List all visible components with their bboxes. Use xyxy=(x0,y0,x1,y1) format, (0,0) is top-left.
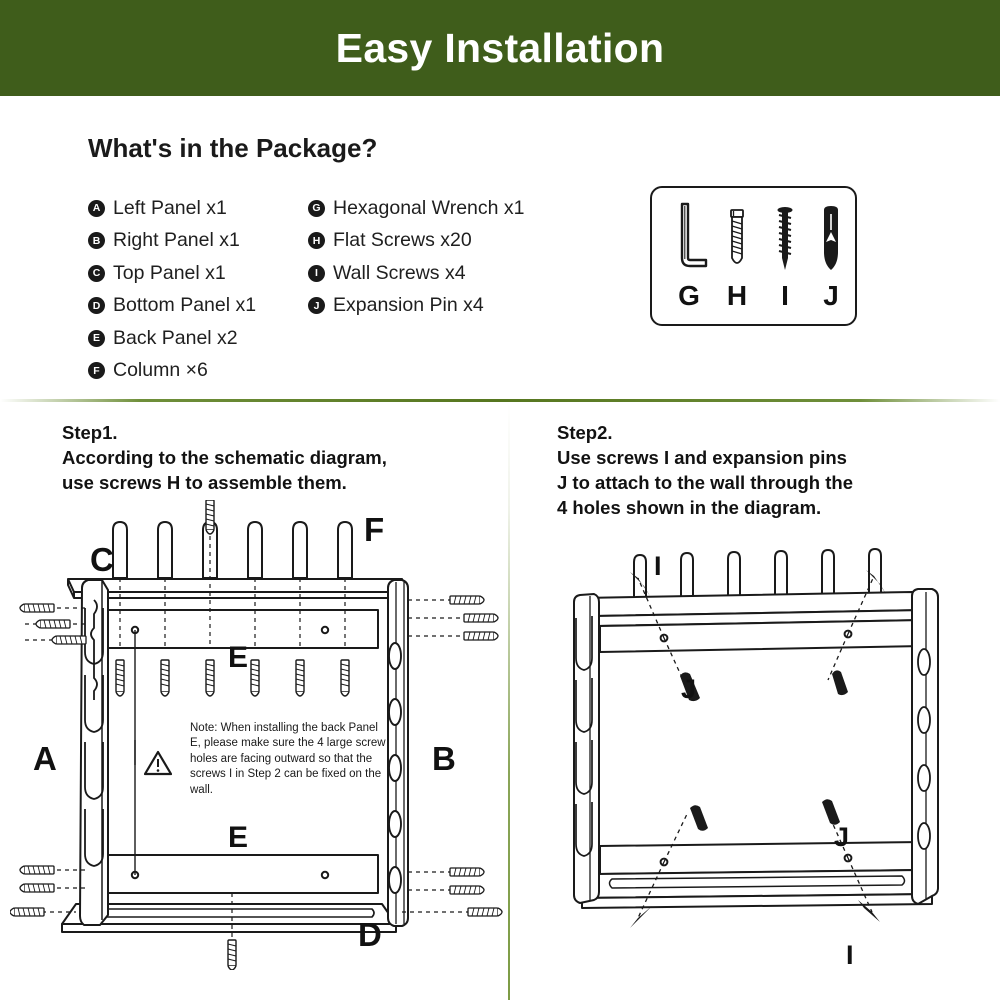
back-panel-upper-assembled xyxy=(600,620,924,652)
right-panel-assembled xyxy=(912,589,938,904)
left-panel-assembled xyxy=(574,594,599,903)
hardware-letter: H xyxy=(712,280,762,312)
item-label: Hexagonal Wrench x1 xyxy=(333,197,525,220)
list-item: C Top Panel x1 xyxy=(88,257,256,290)
list-item: E Back Panel x2 xyxy=(88,322,256,355)
item-label: Right Panel x1 xyxy=(113,229,240,252)
column-posts-assembled xyxy=(634,549,881,598)
package-list-left: A Left Panel x1 B Right Panel x1 C Top P… xyxy=(88,192,256,387)
step2-line3: 4 holes shown in the diagram. xyxy=(557,495,853,520)
page-title: Easy Installation xyxy=(0,0,1000,96)
wall-screw-icon xyxy=(760,196,810,282)
expansion-pin-markers xyxy=(680,670,848,830)
hardware-letter: G xyxy=(664,280,714,312)
back-panel-e-lower xyxy=(88,855,378,893)
step2-instructions: Step2. Use screws I and expansion pins J… xyxy=(557,420,853,520)
item-badge-f: F xyxy=(88,362,105,379)
step1-line1: According to the schematic diagram, xyxy=(62,445,387,470)
item-badge-c: C xyxy=(88,265,105,282)
step2-heading: Step2. xyxy=(557,420,853,445)
diagram-label-f: F xyxy=(364,511,384,549)
bottom-panel-assembled xyxy=(582,870,932,908)
hardware-letter: J xyxy=(806,280,856,312)
diagram-label-e-upper: E xyxy=(228,641,248,675)
diagram-label-c: C xyxy=(90,541,114,579)
step1-line2: use screws H to assemble them. xyxy=(62,470,387,495)
item-label: Column ×6 xyxy=(113,359,208,382)
list-item: A Left Panel x1 xyxy=(88,192,256,225)
item-badge-a: A xyxy=(88,200,105,217)
step2-line2: J to attach to the wall through the xyxy=(557,470,853,495)
diagram-label-j-bottom-right: J xyxy=(834,822,849,853)
item-label: Left Panel x1 xyxy=(113,197,227,220)
diagram-label-j-top-left: J xyxy=(681,674,696,705)
item-label: Back Panel x2 xyxy=(113,327,238,350)
list-item: B Right Panel x1 xyxy=(88,225,256,258)
list-item: D Bottom Panel x1 xyxy=(88,290,256,323)
diagram-label-i-bottom: I xyxy=(846,940,854,971)
item-badge-i: I xyxy=(308,265,325,282)
flat-screw-icon xyxy=(712,196,762,282)
package-list-right: G Hexagonal Wrench x1 H Flat Screws x20 … xyxy=(308,192,525,322)
diagram-label-a: A xyxy=(33,740,57,778)
column-posts xyxy=(113,522,352,578)
expansion-pin-icon xyxy=(806,196,856,282)
item-label: Expansion Pin x4 xyxy=(333,294,484,317)
package-section-title: What's in the Package? xyxy=(88,133,377,164)
diagram-label-i-top: I xyxy=(654,551,662,582)
page-header: Easy Installation xyxy=(0,0,1000,96)
hex-wrench-icon xyxy=(664,196,714,282)
diagram-label-e-lower: E xyxy=(228,821,248,855)
item-label: Wall Screws x4 xyxy=(333,262,466,285)
item-badge-h: H xyxy=(308,232,325,249)
list-item: G Hexagonal Wrench x1 xyxy=(308,192,525,225)
hardware-letter: I xyxy=(760,280,810,312)
item-label: Bottom Panel x1 xyxy=(113,294,256,317)
hardware-illustration-box: G H xyxy=(650,186,857,326)
item-label: Top Panel x1 xyxy=(113,262,226,285)
warning-triangle-icon xyxy=(144,750,172,776)
list-item: I Wall Screws x4 xyxy=(308,257,525,290)
hardware-item-h: H xyxy=(712,196,762,320)
list-item: H Flat Screws x20 xyxy=(308,225,525,258)
vertical-divider xyxy=(508,403,510,1000)
right-panel-b xyxy=(388,580,408,926)
installation-note: Note: When installing the back Panel E, … xyxy=(190,721,390,798)
item-badge-e: E xyxy=(88,330,105,347)
item-label: Flat Screws x20 xyxy=(333,229,472,252)
hardware-item-i: I xyxy=(760,196,810,320)
hardware-item-g: G xyxy=(664,196,714,320)
item-badge-b: B xyxy=(88,232,105,249)
step1-heading: Step1. xyxy=(62,420,387,445)
diagram-label-b: B xyxy=(432,740,456,778)
item-badge-d: D xyxy=(88,297,105,314)
installation-instruction-page: Easy Installation What's in the Package?… xyxy=(0,0,1000,1000)
horizontal-divider xyxy=(0,399,1000,402)
item-badge-g: G xyxy=(308,200,325,217)
step2-line1: Use screws I and expansion pins xyxy=(557,445,853,470)
item-badge-j: J xyxy=(308,297,325,314)
left-panel-a xyxy=(80,580,108,925)
hardware-item-j: J xyxy=(806,196,856,320)
list-item: J Expansion Pin x4 xyxy=(308,290,525,323)
back-panel-lower-assembled xyxy=(600,842,924,874)
top-panel-c xyxy=(68,579,408,598)
diagram-label-d: D xyxy=(358,916,382,954)
list-item: F Column ×6 xyxy=(88,355,256,388)
step2-assembled-diagram xyxy=(560,540,990,965)
step1-instructions: Step1. According to the schematic diagra… xyxy=(62,420,387,495)
bottom-panel-d xyxy=(62,904,396,932)
